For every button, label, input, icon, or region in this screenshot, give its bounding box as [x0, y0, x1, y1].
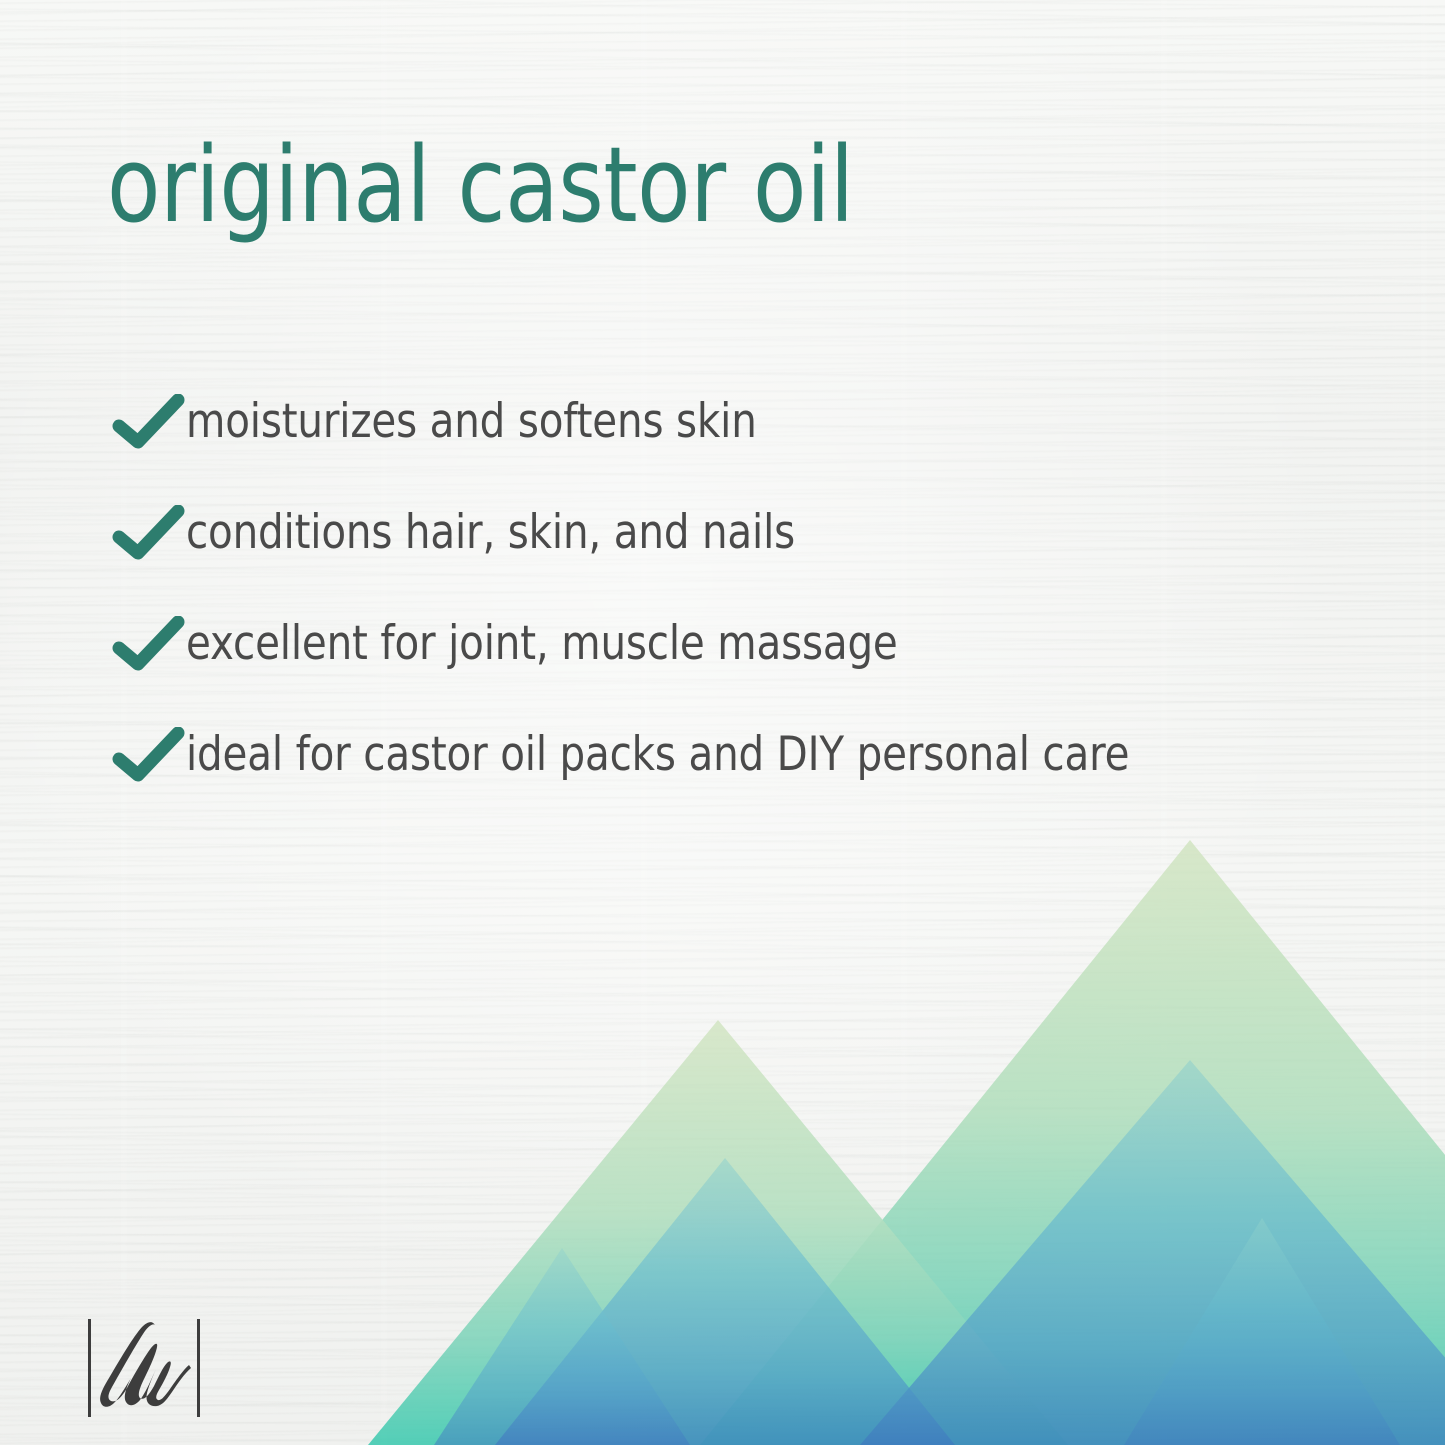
list-item: ideal for castor oil packs and DIY perso…	[112, 699, 1412, 810]
list-item-label: excellent for joint, muscle massage	[186, 620, 898, 667]
checkmark-icon	[112, 394, 186, 450]
logo-right-bar	[197, 1319, 200, 1417]
brand-logo	[85, 1309, 207, 1427]
script-h-monogram-icon	[100, 1322, 191, 1407]
list-item-label: moisturizes and softens skin	[186, 398, 757, 445]
logo-left-bar	[88, 1319, 91, 1417]
list-item-label: ideal for castor oil packs and DIY perso…	[186, 731, 1129, 778]
checkmark-icon	[112, 505, 186, 561]
list-item-label: conditions hair, skin, and nails	[186, 509, 795, 556]
product-benefits-infographic: original castor oil moisturizes and soft…	[0, 0, 1445, 1445]
page-title: original castor oil	[107, 131, 854, 240]
list-item: moisturizes and softens skin	[112, 366, 1412, 477]
benefits-list: moisturizes and softens skin conditions …	[112, 366, 1412, 810]
checkmark-icon	[112, 616, 186, 672]
checkmark-icon	[112, 727, 186, 783]
list-item: excellent for joint, muscle massage	[112, 588, 1412, 699]
list-item: conditions hair, skin, and nails	[112, 477, 1412, 588]
